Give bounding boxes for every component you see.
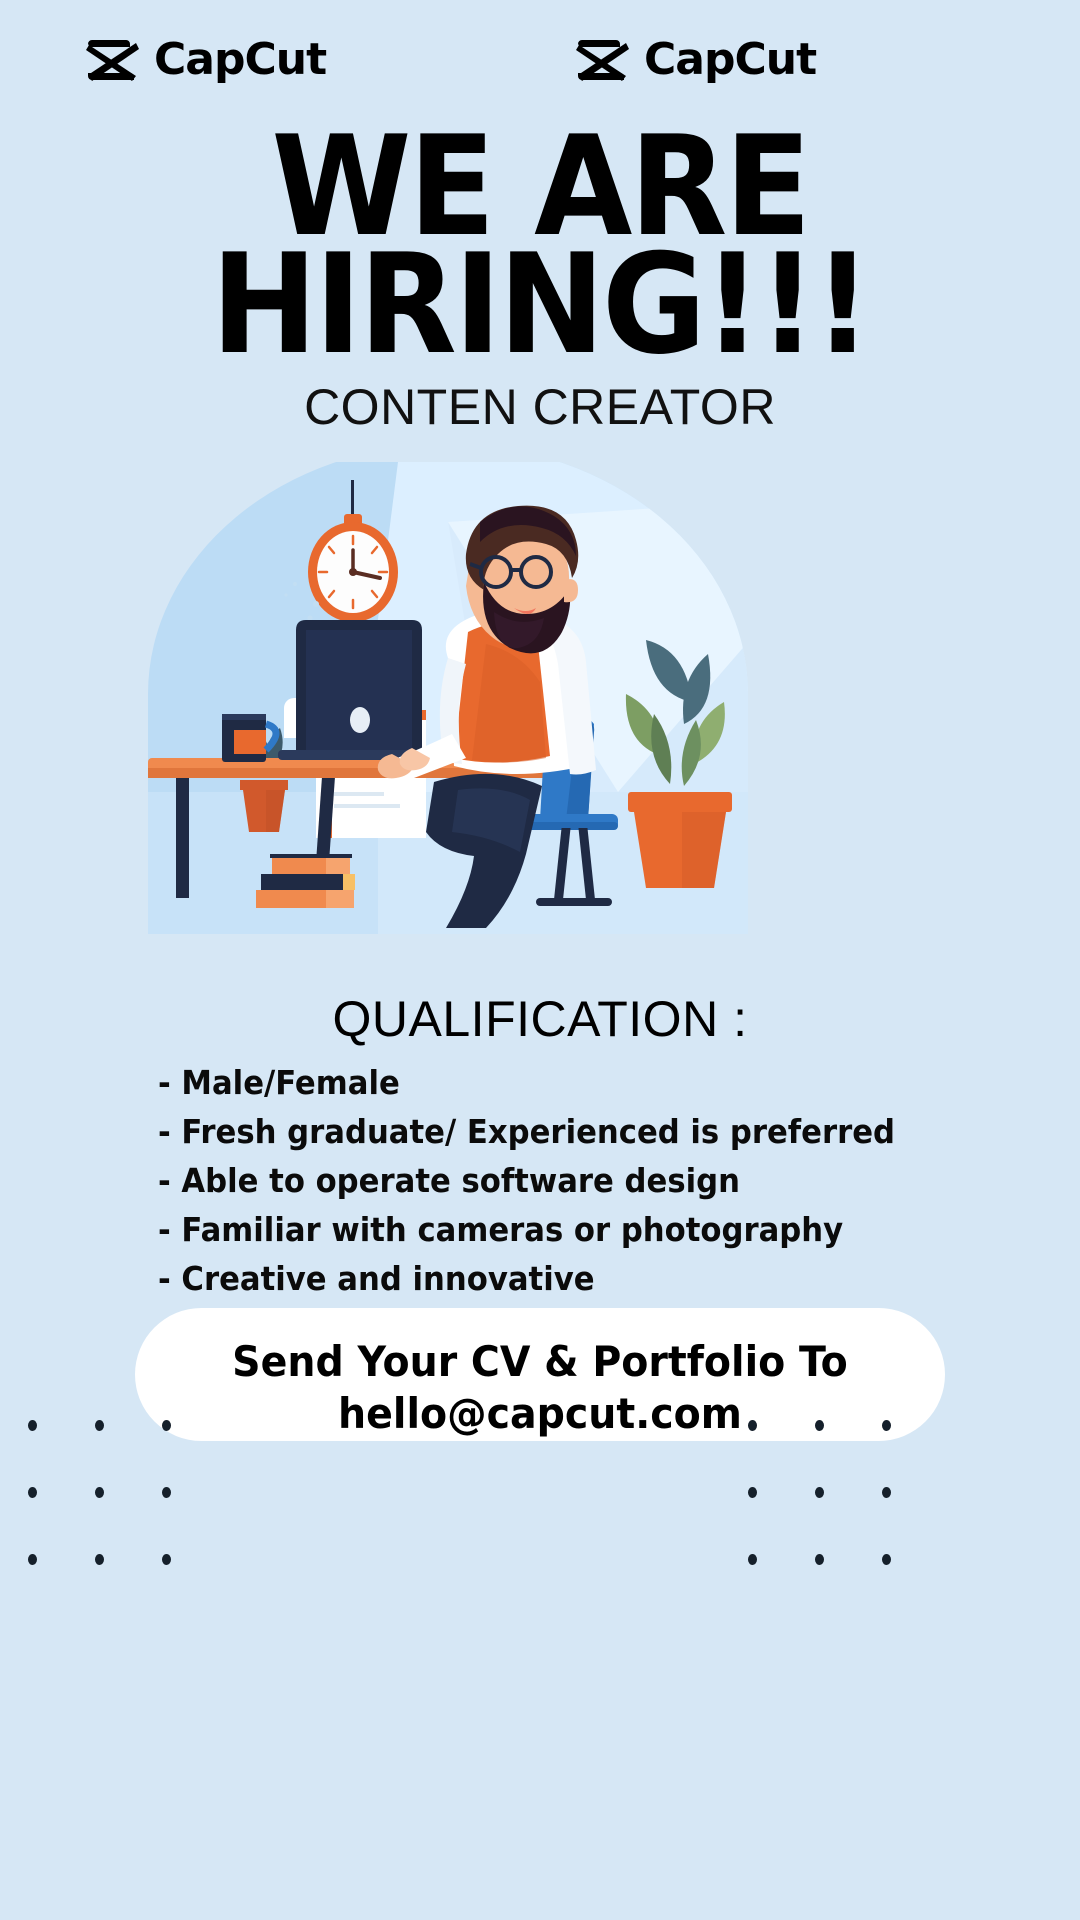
qualification-list: - Male/Female - Fresh graduate/ Experien… <box>158 1058 978 1303</box>
list-item: - Creative and innovative <box>158 1254 921 1303</box>
dot <box>815 1554 824 1565</box>
dot <box>882 1487 891 1498</box>
list-item: - Familiar with cameras or photography <box>158 1205 921 1254</box>
dot <box>95 1420 104 1431</box>
dot <box>162 1554 171 1565</box>
dot <box>95 1554 104 1565</box>
capcut-logo-right[interactable]: CapCut <box>576 38 816 82</box>
dot <box>748 1487 757 1498</box>
dot-grid-right <box>748 1420 891 1621</box>
dot-row <box>748 1420 891 1431</box>
dot-row <box>28 1420 171 1431</box>
list-item: - Fresh graduate/ Experienced is preferr… <box>158 1107 921 1156</box>
capcut-logo-mark-icon <box>86 38 140 82</box>
list-item: - Able to operate software design <box>158 1156 921 1205</box>
capcut-wordmark: CapCut <box>154 38 326 82</box>
dot-row <box>748 1554 891 1565</box>
dot <box>882 1554 891 1565</box>
list-item: - Male/Female <box>158 1058 921 1107</box>
hero-illustration <box>148 462 748 934</box>
dot-row <box>28 1554 171 1565</box>
dot <box>162 1420 171 1431</box>
capcut-logo-mark-icon <box>576 38 630 82</box>
dot <box>28 1487 37 1498</box>
cta-headline: Send Your CV & Portfolio To <box>159 1338 920 1386</box>
dot <box>748 1420 757 1431</box>
dot-row <box>748 1487 891 1498</box>
dot <box>28 1554 37 1565</box>
headline-block: WE ARE HIRING!!! <box>0 128 1080 364</box>
qualification-heading: QUALIFICATION : <box>0 990 1080 1048</box>
dot <box>882 1420 891 1431</box>
headline-line-2: HIRING!!! <box>43 246 1037 364</box>
dot <box>162 1487 171 1498</box>
dot-row <box>28 1487 171 1498</box>
dot-grid-left <box>28 1420 171 1621</box>
capcut-logo-left[interactable]: CapCut <box>86 38 326 82</box>
dot <box>815 1420 824 1431</box>
dot <box>95 1487 104 1498</box>
dot <box>748 1554 757 1565</box>
capcut-wordmark: CapCut <box>644 38 816 82</box>
dot <box>815 1487 824 1498</box>
brand-logo-row: CapCut CapCut <box>0 38 1080 98</box>
dot <box>28 1420 37 1431</box>
job-role-subtitle: CONTEN CREATOR <box>0 378 1080 436</box>
